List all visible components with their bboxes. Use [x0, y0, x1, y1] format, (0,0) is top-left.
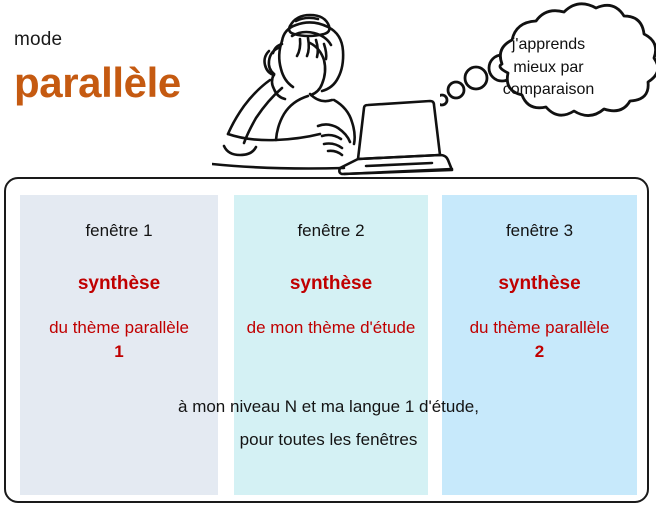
page-title: parallèle: [14, 61, 244, 105]
header-block: mode parallèle: [14, 30, 244, 105]
panel-desc-text-3: du thème parallèle: [470, 318, 610, 337]
panel-description-3: du thème parallèle 2: [442, 316, 637, 363]
panel-desc-text-1: du thème parallèle: [49, 318, 189, 337]
caption-line-1: à mon niveau N et ma langue 1 d'étude,: [20, 390, 637, 423]
synthese-heading-1: synthèse: [20, 273, 218, 296]
synthese-heading-2: synthèse: [234, 273, 428, 296]
synthese-heading-3: synthèse: [442, 273, 637, 296]
student-at-laptop-icon: [212, 0, 462, 176]
bubble-line-3: comparaison: [503, 81, 595, 98]
window-label-3: fenêtre 3: [442, 221, 637, 241]
thought-bubble-text: j'apprends mieux par comparaison: [466, 34, 631, 102]
panel-desc-emphasis-2: d'étude: [360, 318, 415, 337]
bubble-line-1: j'apprends: [512, 36, 585, 53]
panel-description-1: du thème parallèle 1: [20, 316, 218, 363]
window-label-2: fenêtre 2: [234, 221, 428, 241]
mode-label: mode: [14, 30, 244, 51]
panel-desc-text-2: de mon thème: [247, 318, 356, 337]
panel-desc-emphasis-3: 2: [444, 340, 635, 363]
panel-description-2: de mon thème d'étude: [234, 316, 428, 339]
caption-line-2: pour toutes les fenêtres: [20, 423, 637, 456]
bubble-line-2: mieux par: [513, 59, 583, 76]
panel-desc-emphasis-1: 1: [22, 340, 216, 363]
footer-caption: à mon niveau N et ma langue 1 d'étude, p…: [20, 390, 637, 456]
slide-canvas: mode parallèle: [0, 0, 657, 515]
window-label-1: fenêtre 1: [20, 221, 218, 241]
